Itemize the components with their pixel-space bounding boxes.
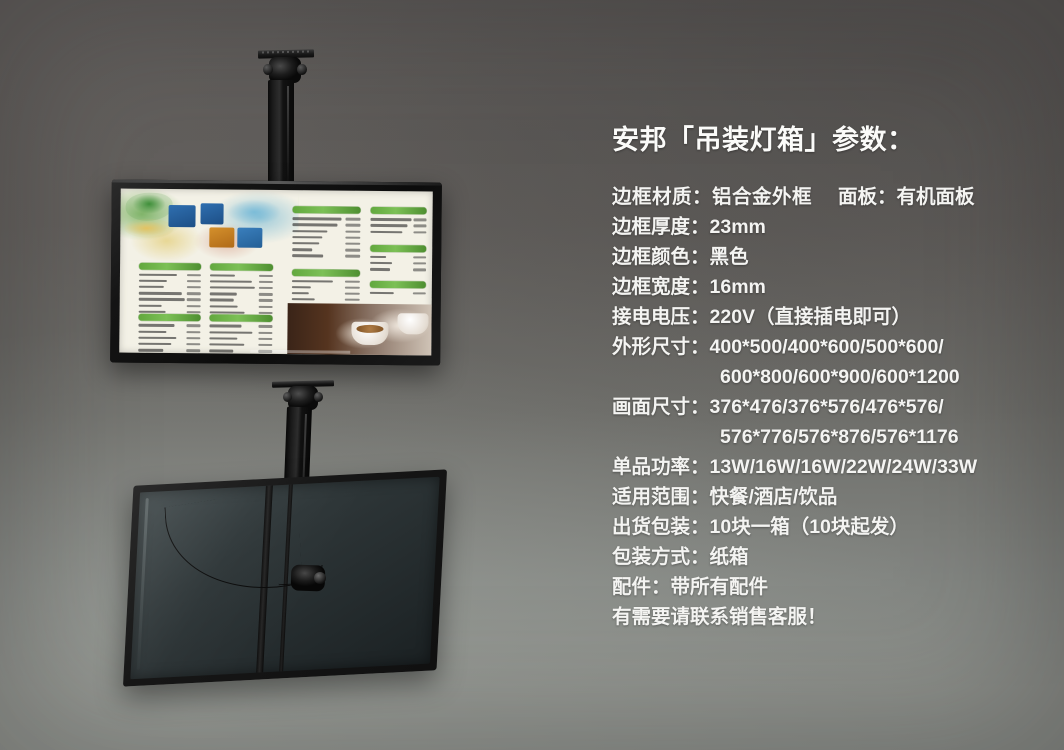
- spec-line-contact: 有需要请联系销售客服！: [612, 602, 1042, 632]
- menu-row: [292, 241, 361, 246]
- specification-panel: 安邦「吊装灯箱」参数： 边框材质：铝合金外框面板：有机面板 边框厚度：23mm …: [612, 124, 1042, 632]
- menu-section-header: [369, 281, 425, 289]
- menu-row: [210, 304, 272, 309]
- menu-row: [370, 261, 426, 266]
- menu-row: [210, 336, 272, 341]
- menu-row: [292, 229, 361, 234]
- menu-row: [370, 255, 426, 260]
- mount-pole-upper: [268, 80, 294, 188]
- spec-line-frame-material: 边框材质：铝合金外框面板：有机面板: [612, 182, 1042, 212]
- lightbox-aluminium-frame: [110, 179, 442, 365]
- menu-section-header: [370, 245, 426, 253]
- menu-row: [292, 235, 361, 240]
- menu-price-rows: [370, 217, 426, 234]
- spec-line-applications: 适用范围：快餐/酒店/饮品: [612, 482, 1042, 512]
- spec-text: 边框材质：铝合金外框: [612, 186, 812, 208]
- spec-title: 安邦「吊装灯箱」参数：: [612, 124, 1042, 156]
- mount-pole-upper-highlight: [287, 86, 289, 184]
- menu-row: [138, 348, 200, 353]
- menu-row: [139, 272, 201, 277]
- mount-swivel-knob: [314, 572, 326, 584]
- coffee-photo: [288, 303, 432, 355]
- spec-line-accessories: 配件：带所有配件: [612, 572, 1042, 602]
- menu-section-header: [210, 263, 272, 271]
- menu-price-rows: [370, 255, 426, 272]
- mount-bolt-right-upper: [297, 64, 307, 75]
- spec-text-secondary: 面板：有机面板: [838, 186, 975, 208]
- menu-row: [138, 336, 200, 341]
- product-photo-stage: 安邦「吊装灯箱」参数： 边框材质：铝合金外框面板：有机面板 边框厚度：23mm …: [0, 0, 1064, 750]
- menu-row: [291, 291, 360, 296]
- menu-section-3: [138, 313, 201, 355]
- spec-line-outer-size: 外形尺寸：400*500/400*600/500*600/: [612, 332, 1042, 362]
- spec-line-frame-thickness: 边框厚度：23mm: [612, 212, 1042, 242]
- spec-line-packaging: 包装方式：纸箱: [612, 542, 1042, 572]
- menu-row: [291, 285, 360, 290]
- spec-line-voltage: 接电电压：220V（直接插电即可）: [612, 302, 1042, 332]
- island-illustration-icon: [124, 219, 174, 238]
- menu-row: [139, 285, 201, 290]
- mount-bolt-right-lower: [314, 392, 323, 402]
- mount-bolt-left-upper: [263, 64, 273, 75]
- menu-hero-artwork: [120, 189, 299, 263]
- menu-row: [210, 286, 272, 291]
- hero-title-char-2: [200, 204, 223, 225]
- menu-section-header: [210, 314, 272, 322]
- menu-row: [291, 297, 360, 302]
- coffee-cup-back-icon: [397, 313, 429, 334]
- water-splash-illustration-icon: [224, 195, 292, 232]
- menu-section-9: [369, 281, 425, 298]
- menu-row: [138, 297, 200, 302]
- menu-row: [370, 223, 426, 228]
- menu-row: [210, 279, 272, 284]
- spec-line-frame-color: 边框颜色：黑色: [612, 242, 1042, 272]
- spec-line-graphic-size: 画面尺寸：376*476/376*576/476*576/: [612, 392, 1042, 422]
- lightbox-rear-backplate: [130, 477, 439, 679]
- lightbox-rear-hinge-edge: [137, 498, 149, 670]
- menu-row: [370, 217, 426, 222]
- menu-section-header: [138, 313, 200, 321]
- menu-row: [292, 254, 361, 259]
- menu-row: [138, 323, 200, 328]
- menu-section-6: [370, 207, 426, 236]
- spec-line-shipping-pack: 出货包装：10块一箱（10块起发）: [612, 512, 1042, 542]
- spec-line-graphic-size-cont: 576*776/576*876/576*1176: [612, 422, 1042, 452]
- spec-line-outer-size-cont: 600*800/600*900/600*1200: [612, 362, 1042, 392]
- menu-row: [139, 279, 201, 284]
- menu-section-header: [292, 269, 361, 277]
- menu-row: [138, 291, 200, 296]
- menu-row: [210, 292, 272, 297]
- menu-price-rows: [369, 291, 425, 296]
- menu-section-header: [139, 262, 201, 270]
- menu-row: [210, 324, 272, 329]
- power-cable: [164, 487, 302, 605]
- menu-row: [291, 279, 360, 284]
- menu-row: [138, 329, 200, 334]
- hero-title-char-3: [209, 227, 234, 247]
- menu-row: [138, 303, 200, 308]
- mount-bolt-left-lower: [283, 392, 292, 402]
- menu-price-rows: [292, 217, 361, 259]
- hero-title-char-4: [238, 227, 263, 247]
- lightbox-rear-unit: [123, 469, 447, 686]
- menu-row: [292, 247, 361, 252]
- menu-row: [292, 223, 361, 228]
- lightbox-menu-panel: [119, 189, 433, 356]
- menu-section-5: [292, 207, 361, 261]
- menu-section-7: [370, 245, 426, 274]
- palm-tree-illustration-icon: [126, 193, 172, 221]
- menu-row: [370, 230, 426, 235]
- menu-row: [370, 267, 426, 272]
- menu-row: [210, 343, 272, 348]
- coffee-cup-front-icon: [351, 322, 389, 345]
- menu-price-rows: [138, 323, 201, 352]
- menu-section-header: [292, 207, 361, 215]
- menu-row: [210, 273, 272, 278]
- menu-row: [138, 342, 200, 347]
- menu-section-header: [370, 207, 426, 215]
- hero-title-char-1: [168, 205, 195, 227]
- spec-line-power: 单品功率：13W/16W/16W/22W/24W/33W: [612, 452, 1042, 482]
- menu-row: [210, 298, 272, 303]
- menu-row: [210, 330, 272, 335]
- spec-line-frame-width: 边框宽度：16mm: [612, 272, 1042, 302]
- menu-row: [292, 217, 361, 222]
- lightbox-front-unit: [110, 179, 442, 365]
- menu-row: [369, 291, 425, 296]
